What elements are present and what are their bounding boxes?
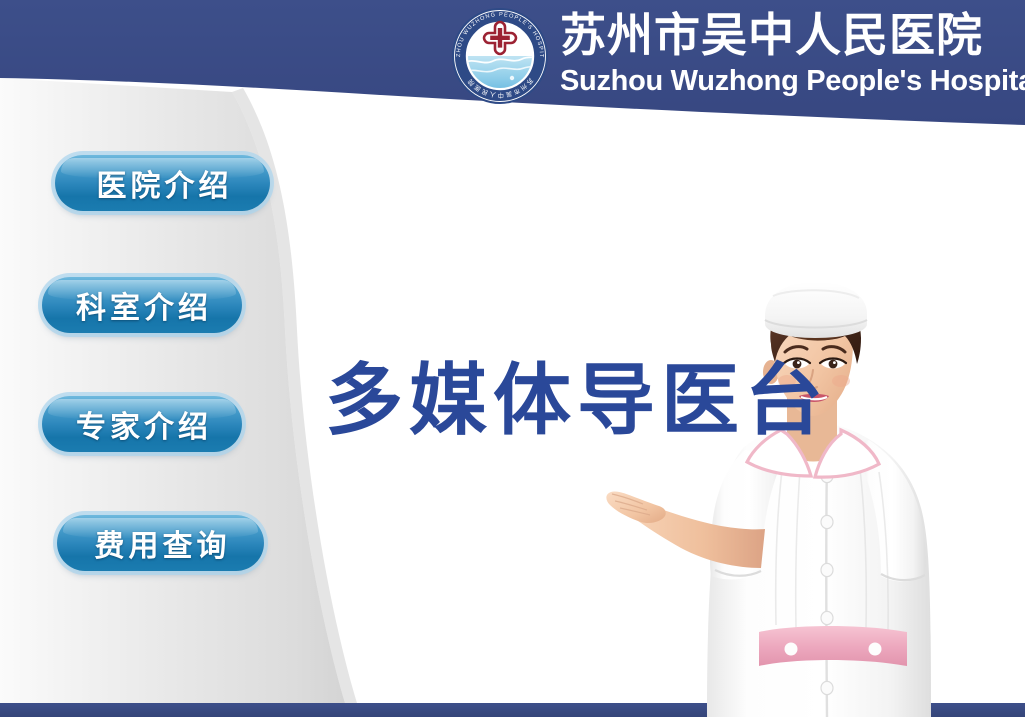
page-title: 多媒体导医台	[325, 355, 829, 447]
sidebar-item-label: 医院介绍	[93, 161, 233, 205]
sidebar-item-label: 费用查询	[91, 521, 231, 565]
sidebar-item-hospital-intro[interactable]: 医院介绍	[55, 155, 270, 211]
sidebar-item-expert-intro[interactable]: 专家介绍	[42, 396, 242, 452]
belt-stud-right	[869, 643, 882, 656]
kiosk-screen: SUZHOU WUZHONG PEOPLE'S HOSPITAL 苏州市吴中人民…	[0, 0, 1025, 717]
sidebar-nav: 医院介绍 科室介绍 专家介绍 费用查询	[0, 0, 330, 717]
nurse-greeting-figure	[595, 280, 1025, 717]
nurse-button-placket	[826, 458, 827, 717]
sidebar-item-department-intro[interactable]: 科室介绍	[42, 277, 242, 333]
nurse-cheek-right	[832, 375, 850, 387]
sidebar-item-label: 科室介绍	[72, 283, 212, 327]
belt-stud-left	[785, 643, 798, 656]
sidebar-item-fee-query[interactable]: 费用查询	[57, 515, 264, 571]
nurse-belt	[759, 626, 907, 666]
sidebar-item-label: 专家介绍	[72, 402, 212, 446]
